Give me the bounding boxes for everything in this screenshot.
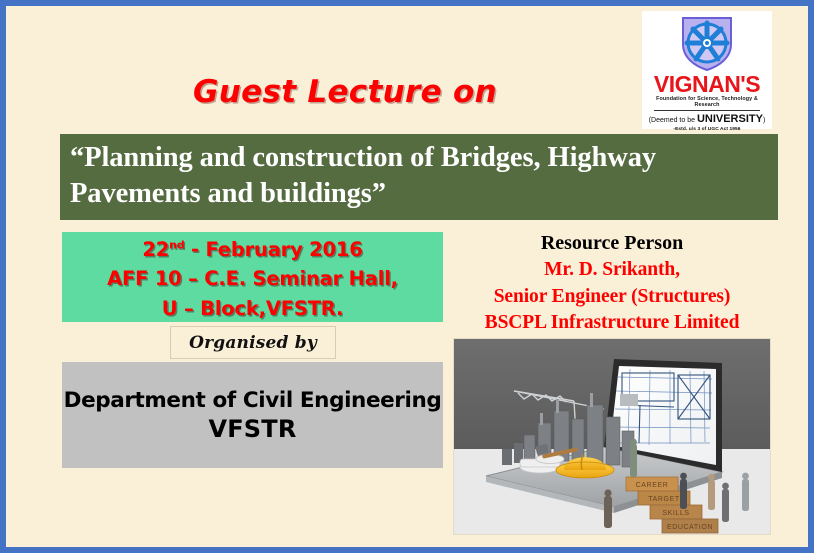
logo-wordmark: VIGNAN'S — [654, 73, 760, 96]
organised-by-box: Organised by — [170, 326, 336, 359]
guest-lecture-heading: Guest Lecture on — [60, 74, 630, 110]
logo-deemed-line: (Deemed to be UNIVERSITY) — [649, 113, 766, 125]
poster-canvas: VIGNAN'S Foundation for Science, Technol… — [0, 0, 814, 553]
resource-person-heading: Resource Person — [453, 230, 771, 257]
svg-text:SKILLS: SKILLS — [662, 510, 689, 517]
svg-text:CAREER: CAREER — [636, 482, 669, 489]
deemed-university-word: UNIVERSITY — [697, 113, 763, 125]
university-logo: VIGNAN'S Foundation for Science, Technol… — [642, 11, 772, 129]
resource-person-block: Resource Person Mr. D. Srikanth, Senior … — [453, 230, 771, 337]
event-venue-line-2: U – Block,VFSTR. — [62, 294, 443, 323]
shield-wheel-icon — [679, 14, 735, 72]
deemed-prefix: (Deemed to be — [649, 117, 697, 124]
event-date-day: 22 — [142, 238, 169, 261]
svg-text:EDUCATION: EDUCATION — [667, 524, 713, 531]
department-box: Department of Civil Engineering VFSTR — [62, 362, 443, 468]
event-date: 22nd - February 2016 — [62, 235, 443, 264]
resource-person-designation: Senior Engineer (Structures) — [453, 284, 771, 311]
lecture-title-line-2: Pavements and buildings” — [70, 176, 768, 212]
event-date-ordinal: nd — [169, 239, 184, 252]
construction-laptop-photo: CAREER TARGET SKILLS EDUCATION — [453, 338, 771, 535]
deemed-suffix: ) — [763, 117, 765, 124]
logo-estd-line: -Estd. u/s 3 of UGC Act 1956 — [673, 127, 740, 132]
lecture-title-line-1: “Planning and construction of Bridges, H… — [70, 140, 768, 176]
resource-person-organisation: BSCPL Infrastructure Limited — [453, 310, 771, 337]
event-date-rest: - February 2016 — [184, 238, 362, 261]
svg-text:TARGET: TARGET — [648, 496, 680, 503]
resource-person-name: Mr. D. Srikanth, — [453, 257, 771, 284]
lecture-title-banner: “Planning and construction of Bridges, H… — [60, 134, 778, 220]
organised-by-label: Organised by — [189, 333, 317, 353]
department-name: Department of Civil Engineering — [64, 388, 442, 415]
event-venue-line-1: AFF 10 – C.E. Seminar Hall, — [62, 264, 443, 293]
event-details-box: 22nd - February 2016 AFF 10 – C.E. Semin… — [62, 232, 443, 322]
logo-tagline: Foundation for Science, Technology & Res… — [654, 97, 760, 111]
department-institute: VFSTR — [208, 414, 296, 444]
